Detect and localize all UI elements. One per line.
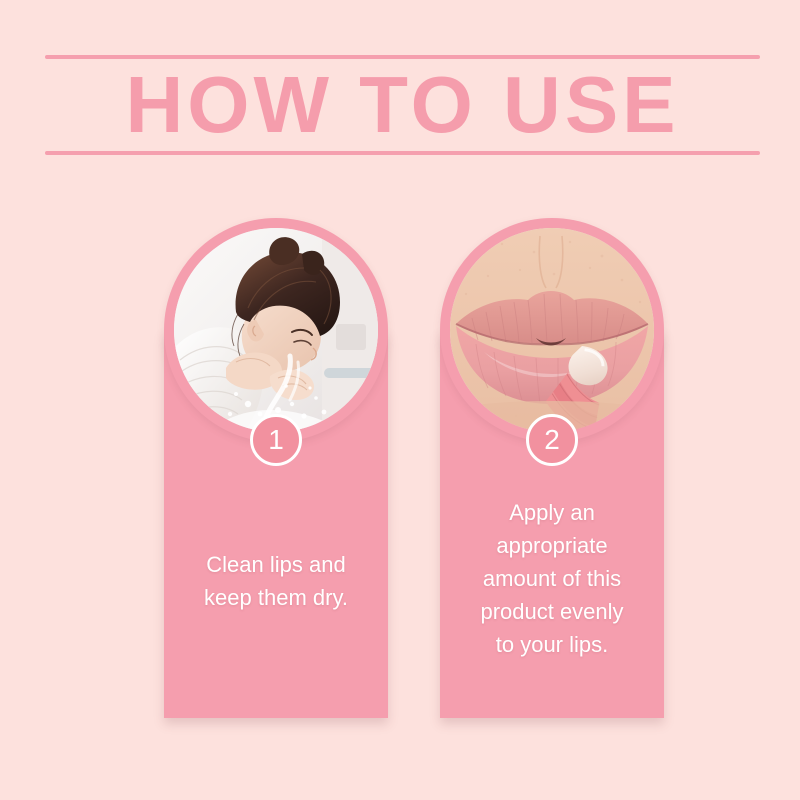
step-number-badge-1: 1: [250, 414, 302, 466]
title-bottom-rule: [45, 151, 760, 155]
how-to-use-poster: HOW TO USE: [0, 0, 800, 800]
step-card-2: 2 Apply an appropriate amount of this pr…: [440, 218, 664, 718]
page-title: HOW TO USE: [45, 59, 760, 151]
step-card-1: 1 Clean lips and keep them dry.: [164, 218, 388, 718]
step-caption-1: Clean lips and keep them dry.: [172, 548, 380, 614]
woman-washing-face-photo: [174, 228, 378, 432]
step-number-badge-2: 2: [526, 414, 578, 466]
title-block: HOW TO USE: [45, 55, 760, 155]
step-caption-2: Apply an appropriate amount of this prod…: [448, 496, 656, 661]
lips-with-applicator-photo: [450, 228, 654, 432]
